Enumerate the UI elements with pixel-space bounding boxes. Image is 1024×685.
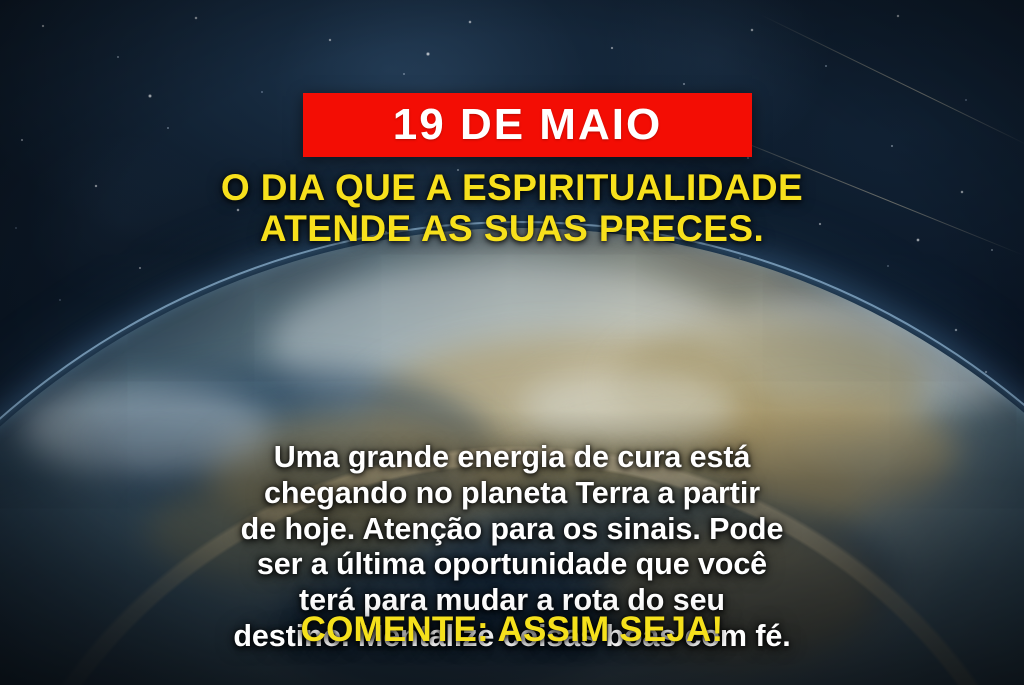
poster-canvas: 19 DE MAIO O DIA QUE A ESPIRITUALIDADE A… (0, 0, 1024, 685)
date-banner: 19 DE MAIO (303, 93, 752, 157)
poster-content: 19 DE MAIO O DIA QUE A ESPIRITUALIDADE A… (0, 0, 1024, 685)
body-line: ser a última oportunidade que você (52, 547, 972, 583)
body-line: de hoje. Atenção para os sinais. Pode (52, 512, 972, 548)
headline-line-2: ATENDE AS SUAS PRECES. (0, 208, 1024, 249)
body-line: Uma grande energia de cura está (52, 440, 972, 476)
headline: O DIA QUE A ESPIRITUALIDADE ATENDE AS SU… (0, 167, 1024, 250)
call-to-action: COMENTE: ASSIM SEJA! (0, 612, 1024, 647)
call-to-action-label: COMENTE: ASSIM SEJA! (301, 610, 724, 649)
body-line: chegando no planeta Terra a partir (52, 476, 972, 512)
date-banner-label: 19 DE MAIO (393, 103, 662, 147)
headline-line-1: O DIA QUE A ESPIRITUALIDADE (221, 167, 803, 208)
